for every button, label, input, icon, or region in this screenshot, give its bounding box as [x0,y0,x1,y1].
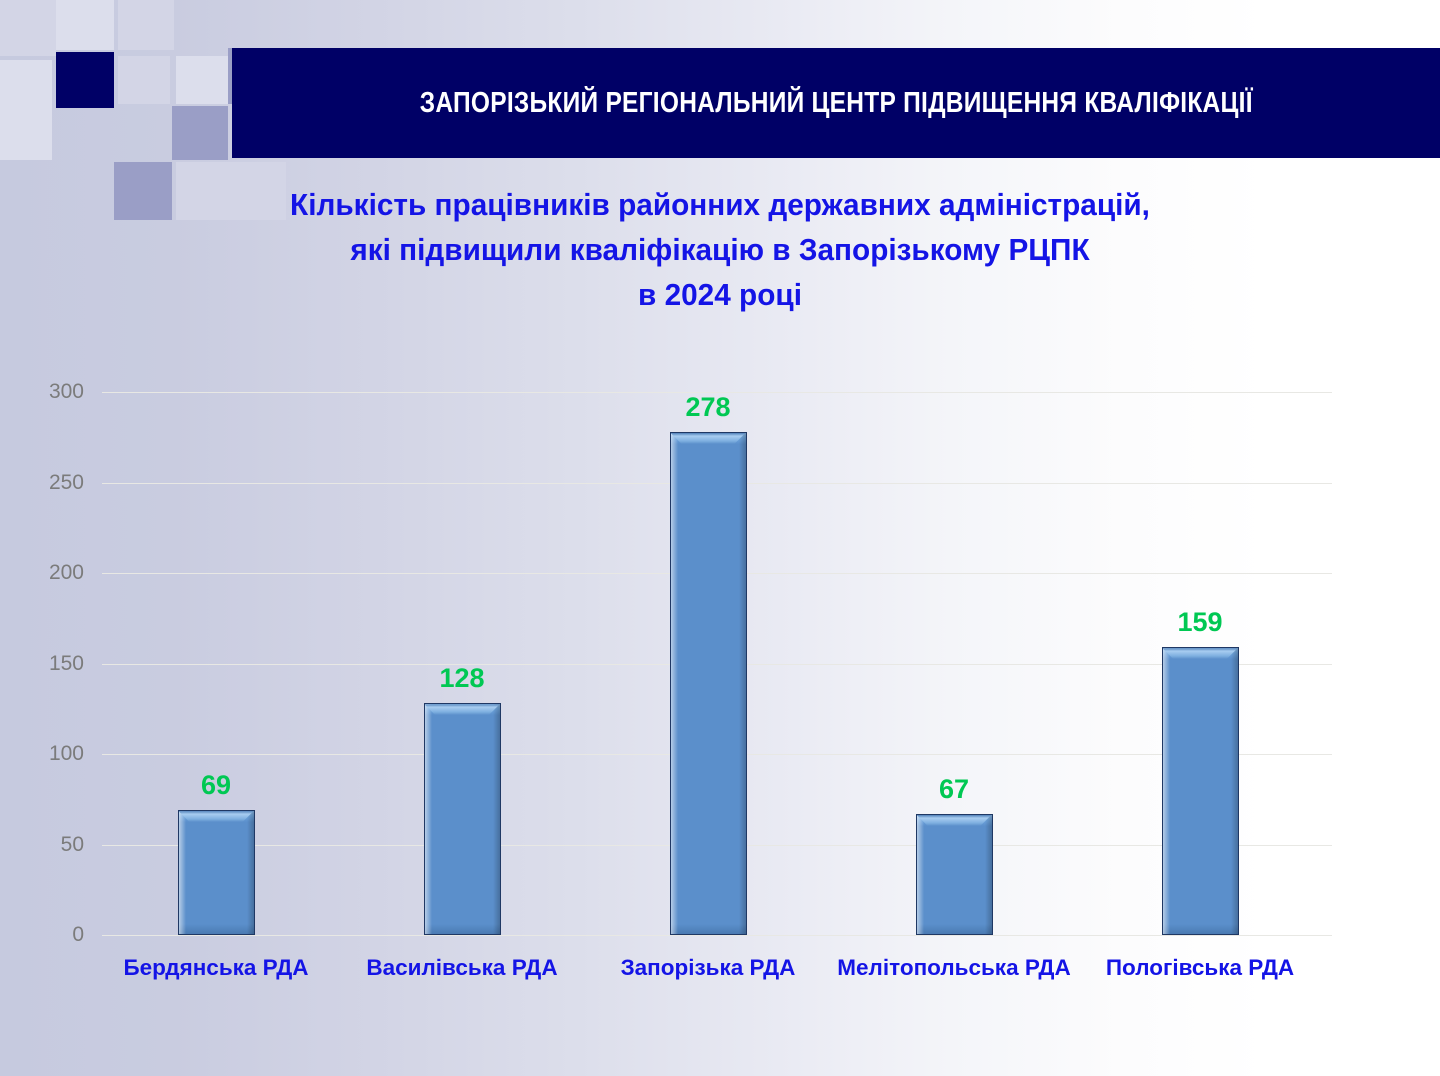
y-axis-tick-label: 300 [24,380,84,404]
bar-group: 159 [1162,392,1239,935]
x-axis-category-label: Запорізька РДА [591,952,825,983]
bar[interactable] [670,432,747,935]
chart-title-line-3: в 2024 році [144,272,1296,317]
y-axis-tick-label: 200 [24,561,84,585]
bar-group: 67 [916,392,993,935]
bar-value-label: 278 [685,392,730,423]
chart-title-line-1: Кількість працівників районних державних… [144,182,1296,227]
y-axis-tick-label: 150 [24,652,84,676]
decor-square-pale-1 [0,0,56,56]
decor-square-pale-6 [176,56,232,104]
bar-value-label: 159 [1177,607,1222,638]
gridline [102,935,1332,936]
x-axis-category-label: Бердянська РДА [99,952,333,983]
bar-value-label: 69 [201,770,231,801]
chart-title: Кількість працівників районних державних… [144,182,1296,317]
chart-title-line-2: які підвищили кваліфікацію в Запорізьком… [144,227,1296,272]
bar-group: 69 [178,392,255,935]
y-axis-tick-label: 100 [24,742,84,766]
decor-square-pale-4 [0,60,52,160]
decor-square-navy [56,52,114,108]
bar[interactable] [424,703,501,935]
bar[interactable] [1162,647,1239,935]
bar-group: 128 [424,392,501,935]
bar-group: 278 [670,392,747,935]
decor-square-pale-2 [56,0,114,50]
x-axis-category-label: Мелітопольська РДА [837,952,1071,983]
plot-area: 6912827867159 [102,392,1332,935]
y-axis-tick-label: 50 [24,833,84,857]
x-axis-category-label: Пологівська РДА [1083,952,1317,983]
organization-title: ЗАПОРІЗЬКИЙ РЕГІОНАЛЬНИЙ ЦЕНТР ПІДВИЩЕНН… [420,87,1253,120]
decor-square-pale-3 [118,0,174,50]
slide-canvas: ЗАПОРІЗЬКИЙ РЕГІОНАЛЬНИЙ ЦЕНТР ПІДВИЩЕНН… [0,0,1440,1076]
bar[interactable] [916,814,993,935]
x-axis-category-label: Василівська РДА [345,952,579,983]
y-axis-tick-label: 250 [24,471,84,495]
header-band: ЗАПОРІЗЬКИЙ РЕГІОНАЛЬНИЙ ЦЕНТР ПІДВИЩЕНН… [232,48,1440,158]
y-axis-tick-label: 0 [24,923,84,947]
decor-square-pale-5 [118,56,170,104]
bar-value-label: 67 [939,774,969,805]
bar[interactable] [178,810,255,935]
bar-value-label: 128 [439,663,484,694]
decor-square-periwinkle-2 [172,106,228,160]
